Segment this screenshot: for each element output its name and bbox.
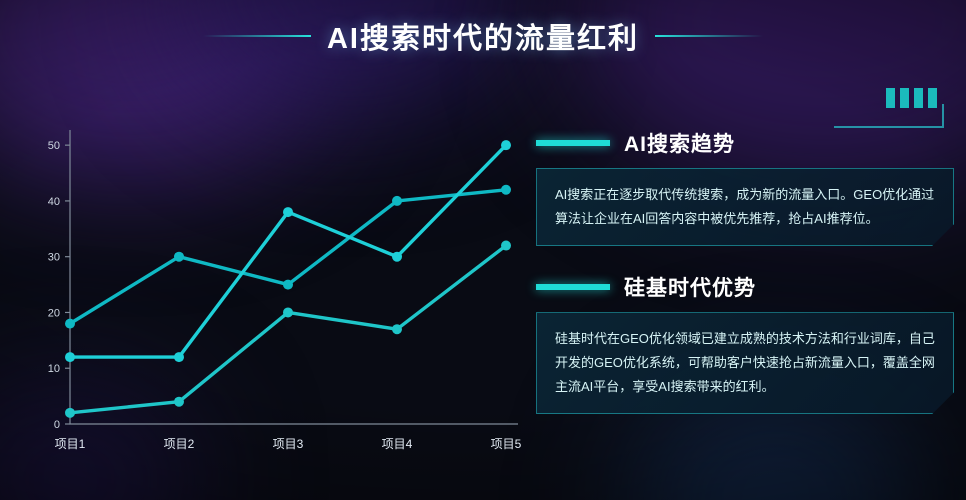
- chart-canvas: 01020304050项目1项目2项目3项目4项目5: [8, 112, 528, 472]
- section-2-body: 硅基时代在GEO优化领域已建立成熟的技术方法和行业词库，自己开发的GEO优化系统…: [555, 327, 935, 399]
- section-2-accent-bar: [536, 284, 610, 290]
- data-point: [65, 319, 75, 329]
- y-tick-label: 40: [48, 196, 60, 208]
- y-tick-label: 30: [48, 252, 60, 264]
- data-point: [501, 140, 511, 150]
- section-1-accent-bar: [536, 140, 610, 146]
- section-2-title: 硅基时代优势: [624, 272, 756, 302]
- page-title: AI搜索时代的流量红利: [327, 15, 639, 57]
- y-tick-label: 10: [48, 363, 60, 375]
- chart-axes: [70, 130, 518, 424]
- section-1-body: AI搜索正在逐步取代传统搜索，成为新的流量入口。GEO优化通过算法让企业在AI回…: [555, 183, 935, 231]
- section-1-card: AI搜索正在逐步取代传统搜索，成为新的流量入口。GEO优化通过算法让企业在AI回…: [536, 168, 954, 246]
- data-point: [174, 252, 184, 262]
- x-tick-label: 项目3: [273, 437, 304, 451]
- card-corner-cut-1: [930, 222, 954, 246]
- y-tick-label: 50: [48, 140, 60, 152]
- data-point: [283, 307, 293, 317]
- card-corner-cut-2: [930, 390, 954, 414]
- y-tick-label: 20: [48, 307, 60, 319]
- title-rule-right: [655, 35, 763, 37]
- data-point: [174, 397, 184, 407]
- data-point: [283, 280, 293, 290]
- decor-frame: [834, 104, 944, 128]
- series-line: [70, 145, 506, 357]
- series-line: [70, 246, 506, 413]
- y-tick-label: 0: [54, 419, 60, 431]
- data-point: [65, 352, 75, 362]
- x-tick-label: 项目1: [55, 437, 86, 451]
- x-tick-label: 项目5: [491, 437, 522, 451]
- data-point: [392, 196, 402, 206]
- x-tick-label: 项目4: [382, 437, 413, 451]
- data-point: [501, 241, 511, 251]
- section-2-card: 硅基时代在GEO优化领域已建立成熟的技术方法和行业词库，自己开发的GEO优化系统…: [536, 312, 954, 414]
- data-point: [283, 207, 293, 217]
- data-point: [501, 185, 511, 195]
- line-chart: 01020304050项目1项目2项目3项目4项目5: [8, 112, 528, 472]
- data-point: [65, 408, 75, 418]
- x-tick-label: 项目2: [164, 437, 195, 451]
- data-point: [392, 252, 402, 262]
- title-bar: AI搜索时代的流量红利: [0, 8, 966, 64]
- section-2-header: 硅基时代优势: [536, 272, 954, 302]
- data-point: [174, 352, 184, 362]
- section-1-title: AI搜索趋势: [624, 128, 735, 158]
- data-point: [392, 324, 402, 334]
- section-1-header: AI搜索趋势: [536, 128, 954, 158]
- title-rule-left: [203, 35, 311, 37]
- info-panel: AI搜索趋势 AI搜索正在逐步取代传统搜索，成为新的流量入口。GEO优化通过算法…: [536, 128, 954, 440]
- corner-decoration: [834, 82, 944, 128]
